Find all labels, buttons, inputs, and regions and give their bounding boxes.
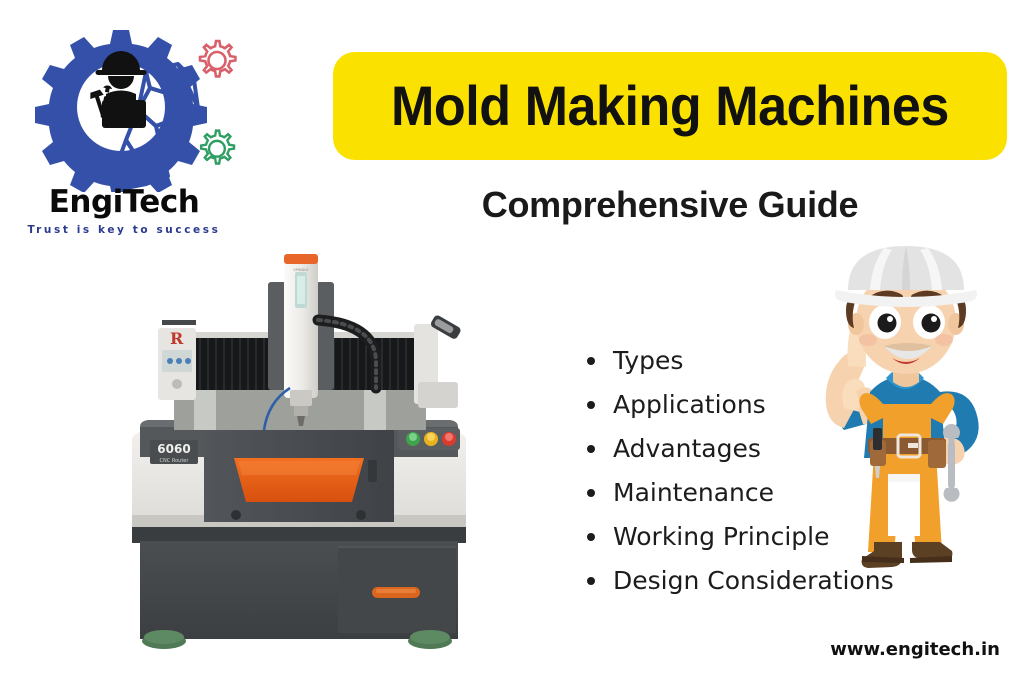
machine-base-cabinet <box>132 527 466 639</box>
machine-side-control-panel: R <box>158 320 196 400</box>
decorative-gear-red-icon <box>188 36 244 92</box>
brand-name: EngiTech <box>18 187 230 218</box>
model-badge-text: 6060 <box>157 442 190 456</box>
title-banner: Mold Making Machines <box>333 52 1007 160</box>
svg-text:SPINDLE: SPINDLE <box>293 268 309 272</box>
bullet-icon <box>587 445 595 453</box>
machine-indicator-lights <box>398 428 460 450</box>
page-title: Mold Making Machines <box>391 78 949 134</box>
bullet-icon <box>587 357 595 365</box>
page-subtitle: Comprehensive Guide <box>333 182 1007 227</box>
list-item-label: Advantages <box>613 434 761 463</box>
brand-logo-block: EngiTech Trust is key to success <box>18 22 268 247</box>
machine-brand-mark: R <box>170 329 184 348</box>
website-url: www.engitech.in <box>830 641 1000 659</box>
machine-model-badge: 6060 CNC Router <box>150 440 198 464</box>
model-subtext: CNC Router <box>160 458 190 464</box>
cnc-mold-making-machine-photo: 6060 CNC Router <box>118 232 480 650</box>
infographic-canvas: EngiTech Trust is key to success Mold Ma… <box>0 0 1024 683</box>
list-item-label: Maintenance <box>613 478 774 507</box>
mascot-boots <box>862 542 953 568</box>
bullet-icon <box>587 577 595 585</box>
mascot-hard-hat-icon <box>835 246 977 307</box>
bullet-icon <box>587 533 595 541</box>
bullet-icon <box>587 489 595 497</box>
list-item-label: Applications <box>613 390 766 419</box>
machine-tool-setter-arm <box>414 314 462 408</box>
engineer-mascot-pointing-up <box>788 242 1023 622</box>
list-item-label: Types <box>613 346 683 375</box>
bullet-icon <box>587 401 595 409</box>
decorative-gear-green-icon <box>190 126 242 178</box>
